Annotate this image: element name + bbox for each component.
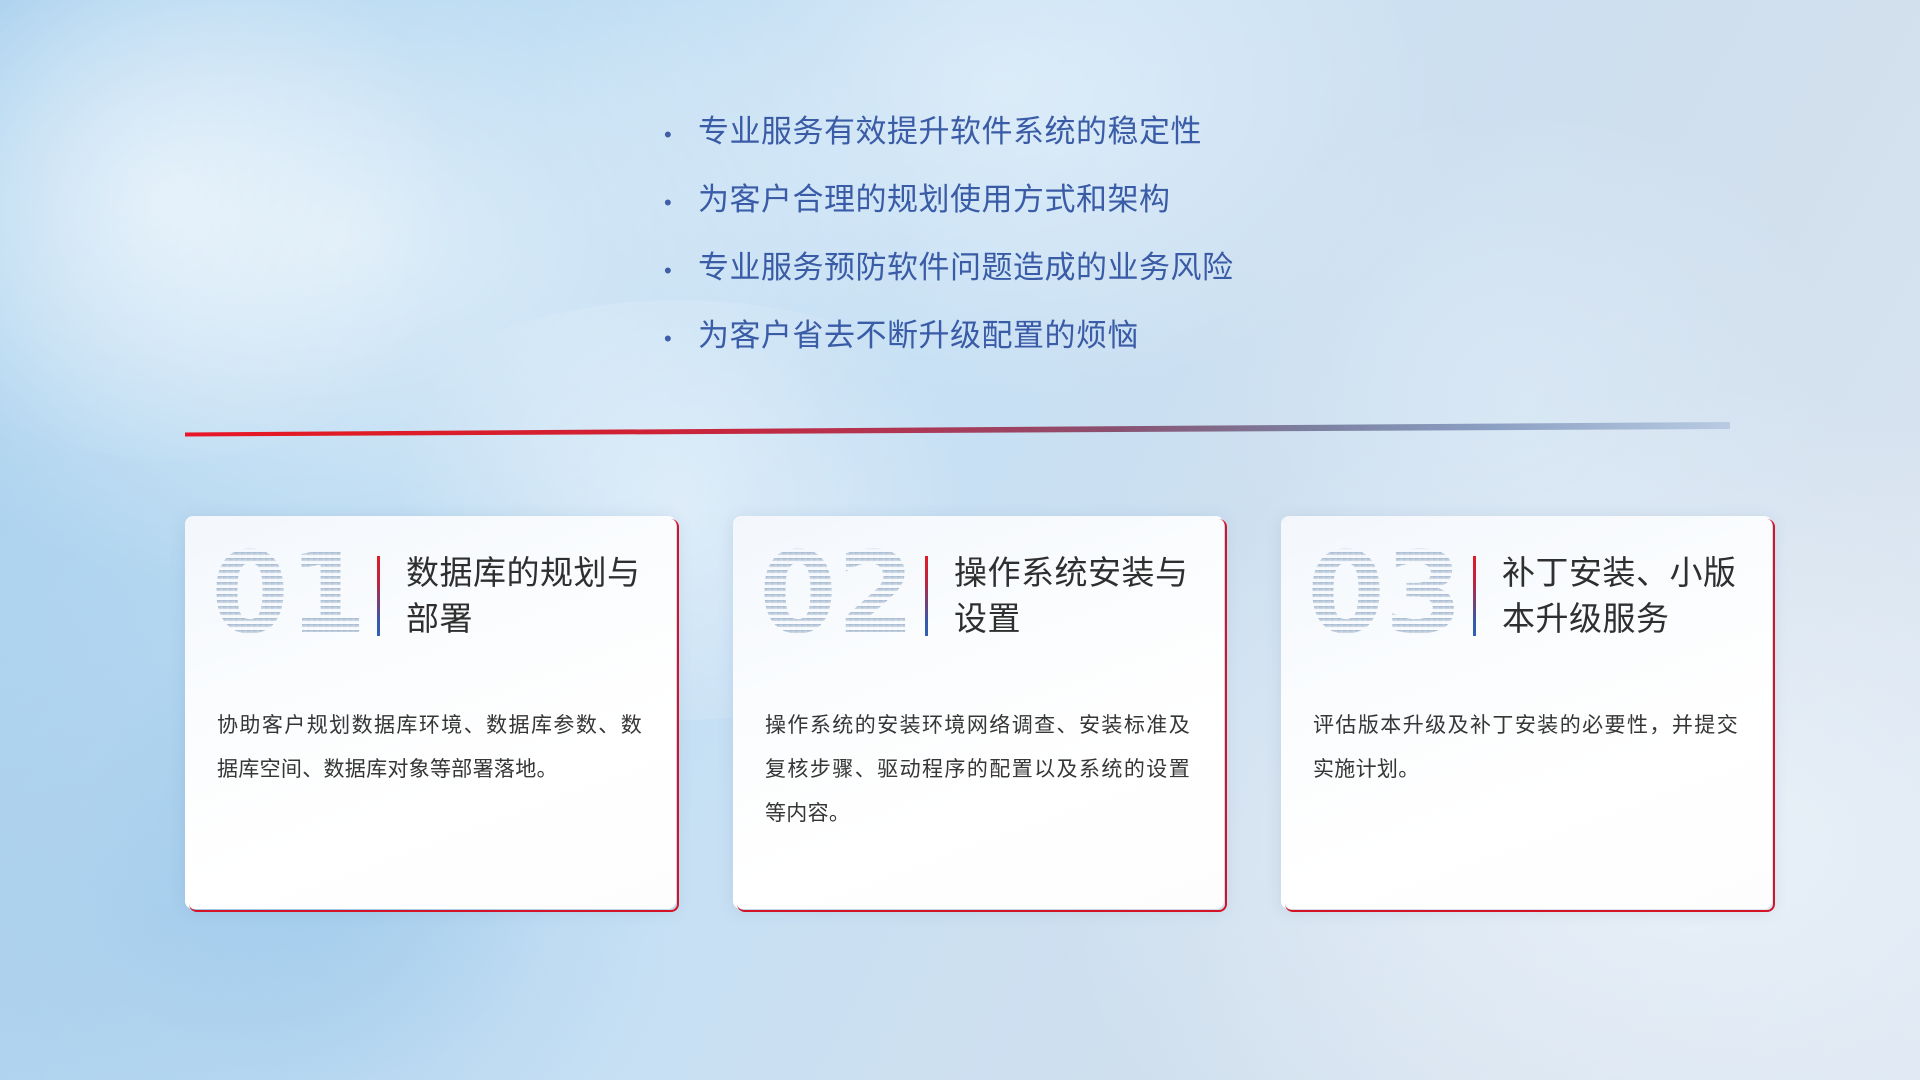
- card-number-text: 03: [1307, 540, 1457, 652]
- card-accent-bar: [925, 556, 928, 636]
- bullet-marker-icon: •: [660, 317, 698, 361]
- service-card[interactable]: 02 操作系统安装与设置 操作系统的安装环境网络调查、安装标准及复核步骤、驱动程…: [733, 516, 1224, 909]
- card-header: 03 补丁安装、小版本升级服务: [1281, 516, 1772, 676]
- list-item: • 为客户合理的规划使用方式和架构: [660, 178, 1520, 222]
- list-item: • 专业服务预防软件问题造成的业务风险: [660, 246, 1520, 290]
- card-title: 数据库的规划与部署: [406, 550, 661, 642]
- card-number-watermark: 03: [1307, 540, 1457, 652]
- card-title: 补丁安装、小版本升级服务: [1502, 550, 1757, 642]
- card-header: 02 操作系统安装与设置: [733, 516, 1224, 676]
- benefits-bullet-list: • 专业服务有效提升软件系统的稳定性 • 为客户合理的规划使用方式和架构 • 专…: [660, 110, 1520, 382]
- card-description: 协助客户规划数据库环境、数据库参数、数据库空间、数据库对象等部署落地。: [185, 676, 676, 792]
- background-bloom-top-left: [0, 0, 480, 460]
- bullet-text: 为客户省去不断升级配置的烦恼: [698, 314, 1139, 358]
- section-divider: [185, 420, 1730, 442]
- list-item: • 为客户省去不断升级配置的烦恼: [660, 314, 1520, 358]
- card-title: 操作系统安装与设置: [954, 550, 1209, 642]
- bullet-text: 专业服务有效提升软件系统的稳定性: [698, 110, 1202, 154]
- card-header: 01 数据库的规划与部署: [185, 516, 676, 676]
- card-number-watermark: 01: [211, 540, 361, 652]
- card-accent-bar: [377, 556, 380, 636]
- card-number-text: 01: [211, 540, 361, 652]
- service-card[interactable]: 03 补丁安装、小版本升级服务 评估版本升级及补丁安装的必要性，并提交实施计划。: [1281, 516, 1772, 909]
- bullet-marker-icon: •: [660, 249, 698, 293]
- bullet-text: 为客户合理的规划使用方式和架构: [698, 178, 1171, 222]
- service-card[interactable]: 01 数据库的规划与部署 协助客户规划数据库环境、数据库参数、数据库空间、数据库…: [185, 516, 676, 909]
- card-number-text: 02: [759, 540, 909, 652]
- card-description: 操作系统的安装环境网络调查、安装标准及复核步骤、驱动程序的配置以及系统的设置等内…: [733, 676, 1224, 836]
- list-item: • 专业服务有效提升软件系统的稳定性: [660, 110, 1520, 154]
- service-card-list: 01 数据库的规划与部署 协助客户规划数据库环境、数据库参数、数据库空间、数据库…: [0, 516, 1920, 916]
- card-number-watermark: 02: [759, 540, 909, 652]
- bullet-marker-icon: •: [660, 113, 698, 157]
- card-accent-bar: [1473, 556, 1476, 636]
- bullet-marker-icon: •: [660, 181, 698, 225]
- bullet-text: 专业服务预防软件问题造成的业务风险: [698, 246, 1234, 290]
- card-description: 评估版本升级及补丁安装的必要性，并提交实施计划。: [1281, 676, 1772, 792]
- slide-canvas: • 专业服务有效提升软件系统的稳定性 • 为客户合理的规划使用方式和架构 • 专…: [0, 0, 1920, 1080]
